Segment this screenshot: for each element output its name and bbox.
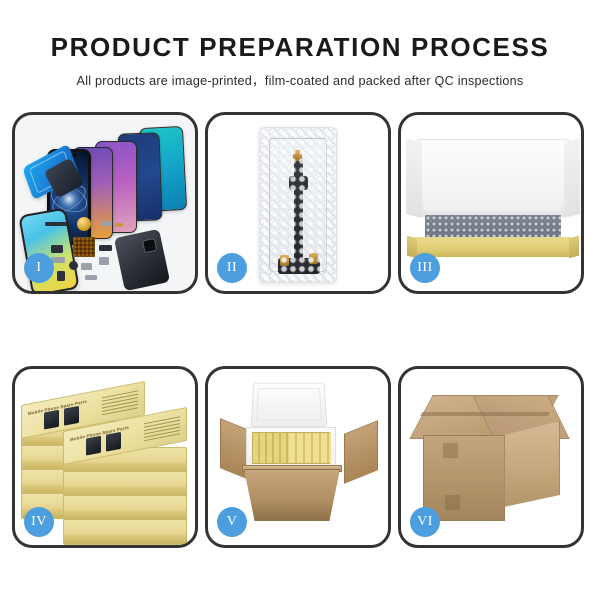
box-artwork-screen-icon xyxy=(86,436,101,456)
process-step-grid: I II xyxy=(12,112,590,548)
spare-part-small-icon xyxy=(101,221,111,226)
step-badge-6: VI xyxy=(410,507,440,537)
carton-side-face-icon xyxy=(504,421,560,507)
flex-cable-assembly-icon xyxy=(294,158,303,270)
foam-box-lid-icon xyxy=(250,383,327,427)
process-step-2[interactable]: II xyxy=(205,112,391,294)
retail-box-stack-item xyxy=(63,519,187,545)
carton-tab-upper-icon xyxy=(443,443,458,458)
header: PRODUCT PREPARATION PROCESS All products… xyxy=(0,0,600,89)
process-step-4[interactable]: Mobile Phone Spare Parts Mobile Phone Sp… xyxy=(12,366,198,548)
product-preparation-infographic: PRODUCT PREPARATION PROCESS All products… xyxy=(0,0,600,600)
carton-tab-lower-icon xyxy=(445,495,460,510)
spare-part-shield-icon xyxy=(85,275,97,280)
box-artwork-screen-icon xyxy=(64,406,79,426)
carton-front-face-icon xyxy=(423,435,505,521)
box-artwork-text-lines-icon xyxy=(102,390,138,415)
step-badge-4: IV xyxy=(24,507,54,537)
retail-box-stack-item xyxy=(63,495,187,521)
page-subtitle: All products are image-printed，film-coat… xyxy=(0,70,600,89)
box-artwork-screen-icon xyxy=(44,410,59,430)
spare-part-strip-icon xyxy=(45,222,67,226)
step-badge-3: III xyxy=(410,253,440,283)
yellow-boxes-inside-icon xyxy=(252,432,330,464)
carton-flap-right-icon xyxy=(344,420,378,484)
carton-body-icon xyxy=(244,469,340,521)
chip-array-icon xyxy=(73,237,95,257)
kraft-box-base-icon xyxy=(415,237,571,257)
process-step-5[interactable]: V xyxy=(205,366,391,548)
mailer-lid-flap-left-icon xyxy=(406,138,422,218)
spare-part-speaker-icon xyxy=(69,261,78,270)
step-badge-5: V xyxy=(217,507,247,537)
box-artwork-screen-icon xyxy=(106,432,121,452)
process-step-3[interactable]: III xyxy=(398,112,584,294)
spare-part-gold-icon xyxy=(115,223,123,227)
step-badge-1: I xyxy=(24,253,54,283)
spare-part-clip-icon xyxy=(81,263,92,270)
bubble-wrap-bag-icon xyxy=(259,127,337,283)
gold-coil-part-icon xyxy=(77,217,91,231)
gold-connector-left-icon xyxy=(280,255,289,266)
spare-part-sim-tray-icon xyxy=(57,271,65,281)
phone-back-housing-icon xyxy=(114,229,170,291)
retail-box-stack-item xyxy=(63,471,187,497)
mailer-lid-flap-right-icon xyxy=(564,138,580,218)
process-step-1[interactable]: I xyxy=(12,112,198,294)
spare-part-connector-icon xyxy=(51,245,63,253)
page-title: PRODUCT PREPARATION PROCESS xyxy=(0,34,600,61)
step-badge-2: II xyxy=(217,253,247,283)
gold-connector-right-icon xyxy=(309,253,318,264)
spare-part-button-icon xyxy=(99,257,109,265)
spare-part-flex-icon xyxy=(99,245,112,251)
white-foam-sheet-icon xyxy=(425,143,561,211)
box-artwork-text-lines-icon xyxy=(144,416,180,441)
process-step-6[interactable]: VI xyxy=(398,366,584,548)
carton-seam-tape-icon xyxy=(420,412,550,416)
camera-module-icon xyxy=(142,238,157,253)
gold-connector-top-icon xyxy=(293,150,302,161)
